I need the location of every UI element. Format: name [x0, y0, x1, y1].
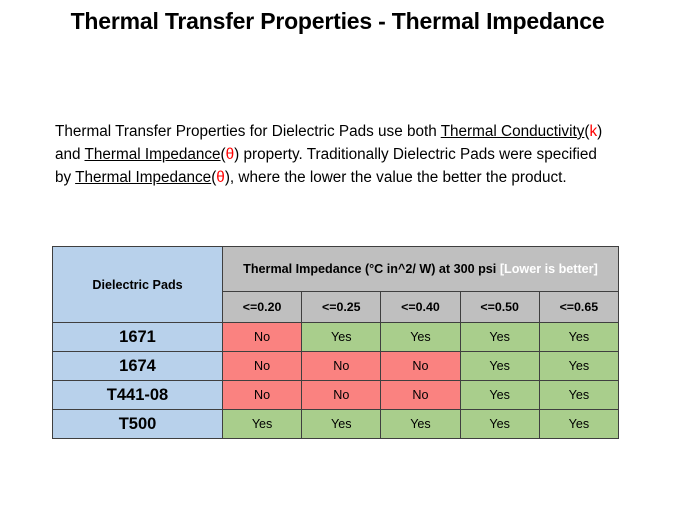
- table-body: Dielectric Pads Thermal Impedance (°C in…: [53, 247, 619, 439]
- table-row: T500 Yes Yes Yes Yes Yes: [53, 410, 619, 439]
- row-label-0: 1671: [53, 323, 223, 352]
- group-header-thermal-impedance: Thermal Impedance (°C in^2/ W) at 300 ps…: [223, 247, 619, 292]
- thermal-impedance-table: Dielectric Pads Thermal Impedance (°C in…: [52, 246, 619, 439]
- column-header-dielectric-pads: Dielectric Pads: [53, 247, 223, 323]
- table-header-row-group: Dielectric Pads Thermal Impedance (°C in…: [53, 247, 619, 292]
- cell-2-0: No: [223, 381, 302, 410]
- cell-2-2: No: [381, 381, 460, 410]
- symbol-theta-1: θ: [226, 146, 235, 163]
- column-header-threshold-4: <=0.65: [539, 292, 618, 323]
- row-label-3: T500: [53, 410, 223, 439]
- link-thermal-impedance-2: Thermal Impedance: [75, 169, 211, 186]
- cell-3-3: Yes: [460, 410, 539, 439]
- column-header-threshold-3: <=0.50: [460, 292, 539, 323]
- body-paragraph: Thermal Transfer Properties for Dielectr…: [55, 120, 615, 189]
- cell-0-0: No: [223, 323, 302, 352]
- cell-1-2: No: [381, 352, 460, 381]
- table-row: 1674 No No No Yes Yes: [53, 352, 619, 381]
- paragraph-segment-2: and: [55, 146, 85, 163]
- cell-0-1: Yes: [302, 323, 381, 352]
- paragraph-segment-4: , where the lower the value the better t…: [230, 169, 567, 186]
- link-thermal-conductivity: Thermal Conductivity: [441, 123, 585, 140]
- cell-1-3: Yes: [460, 352, 539, 381]
- table-row: 1671 No Yes Yes Yes Yes: [53, 323, 619, 352]
- cell-3-2: Yes: [381, 410, 460, 439]
- cell-1-0: No: [223, 352, 302, 381]
- row-label-1: 1674: [53, 352, 223, 381]
- symbol-k: k: [589, 123, 597, 140]
- cell-1-1: No: [302, 352, 381, 381]
- group-header-note-text: [Lower is better]: [500, 262, 598, 276]
- cell-2-3: Yes: [460, 381, 539, 410]
- column-header-threshold-2: <=0.40: [381, 292, 460, 323]
- cell-1-4: Yes: [539, 352, 618, 381]
- cell-2-1: No: [302, 381, 381, 410]
- group-header-main-text: Thermal Impedance (°C in^2/ W) at 300 ps…: [243, 262, 496, 276]
- cell-3-0: Yes: [223, 410, 302, 439]
- symbol-theta-2: θ: [216, 169, 225, 186]
- cell-0-4: Yes: [539, 323, 618, 352]
- paragraph-segment-1: Thermal Transfer Properties for Dielectr…: [55, 123, 441, 140]
- column-header-threshold-1: <=0.25: [302, 292, 381, 323]
- page-title: Thermal Transfer Properties - Thermal Im…: [0, 8, 675, 35]
- cell-3-1: Yes: [302, 410, 381, 439]
- cell-0-2: Yes: [381, 323, 460, 352]
- cell-0-3: Yes: [460, 323, 539, 352]
- cell-3-4: Yes: [539, 410, 618, 439]
- column-header-threshold-0: <=0.20: [223, 292, 302, 323]
- cell-2-4: Yes: [539, 381, 618, 410]
- link-thermal-impedance-1: Thermal Impedance: [85, 146, 221, 163]
- paren-close-1: ): [597, 123, 602, 140]
- table-row: T441-08 No No No Yes Yes: [53, 381, 619, 410]
- thermal-impedance-table-wrapper: Dielectric Pads Thermal Impedance (°C in…: [52, 246, 618, 439]
- row-label-2: T441-08: [53, 381, 223, 410]
